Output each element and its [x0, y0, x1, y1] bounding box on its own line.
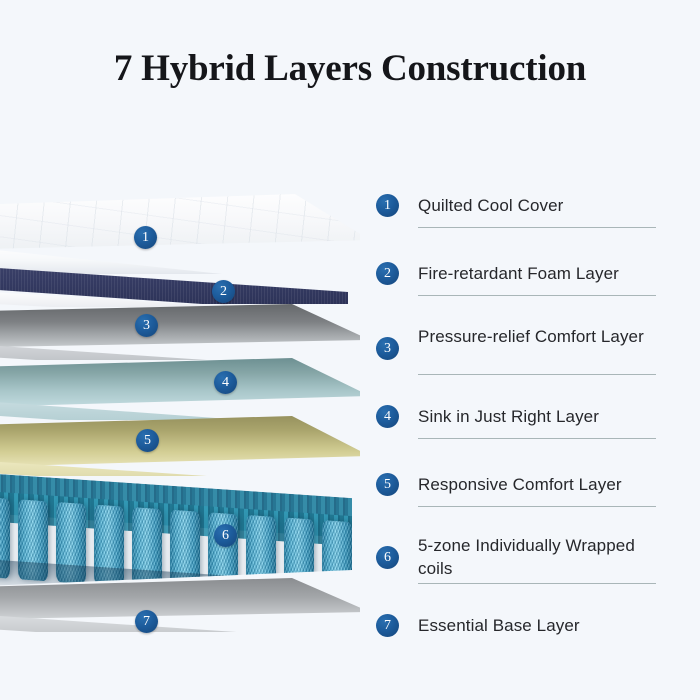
illustration-marker-5[interactable]: 5 — [136, 429, 159, 452]
legend-divider-2 — [418, 295, 656, 296]
pocket-coil — [170, 510, 200, 590]
legend-label-7: Essential Base Layer — [418, 614, 664, 637]
pocket-coil — [322, 520, 352, 590]
legend-badge-3[interactable]: 3 — [376, 337, 399, 360]
illustration-marker-2[interactable]: 2 — [212, 280, 235, 303]
page-title: 7 Hybrid Layers Construction — [0, 47, 700, 90]
legend-badge-4[interactable]: 4 — [376, 405, 399, 428]
mattress-layers-infographic: 7 Hybrid Layers Construction 1 2 3 4 5 6… — [0, 0, 700, 700]
illustration-marker-4[interactable]: 4 — [214, 371, 237, 394]
layer-1-quilted-cover-edge — [0, 244, 360, 274]
legend-badge-1[interactable]: 1 — [376, 194, 399, 217]
layer-5-khaki-foam-top — [0, 416, 360, 468]
legend-label-2: Fire-retardant Foam Layer — [418, 262, 664, 285]
layer-6-pocket-coil-array — [0, 470, 360, 590]
legend-divider-1 — [418, 227, 656, 228]
legend-label-5: Responsive Comfort Layer — [418, 473, 664, 496]
legend-label-4: Sink in Just Right Layer — [418, 405, 664, 428]
illustration-marker-6[interactable]: 6 — [214, 524, 237, 547]
legend-badge-7[interactable]: 7 — [376, 614, 399, 637]
layer-3-gray-foam-top — [0, 304, 360, 348]
legend-label-6: 5-zone Individually Wrapped coils — [418, 534, 664, 580]
legend-badge-6[interactable]: 6 — [376, 546, 399, 569]
legend-label-1: Quilted Cool Cover — [418, 194, 664, 217]
layer-1-quilt-texture — [0, 194, 360, 250]
illustration-marker-7[interactable]: 7 — [135, 610, 158, 633]
legend-badge-2[interactable]: 2 — [376, 262, 399, 285]
legend-divider-6 — [418, 583, 656, 584]
illustration-marker-3[interactable]: 3 — [135, 314, 158, 337]
legend-divider-5 — [418, 506, 656, 507]
legend-label-3: Pressure-relief Comfort Layer — [418, 325, 664, 348]
legend-badge-5[interactable]: 5 — [376, 473, 399, 496]
layer-7-base-top — [0, 578, 360, 620]
legend-divider-3 — [418, 374, 656, 375]
mattress-cutaway-illustration: 1 2 3 4 5 6 7 — [0, 186, 360, 656]
illustration-marker-1[interactable]: 1 — [134, 226, 157, 249]
legend-divider-4 — [418, 438, 656, 439]
layer-4-teal-foam-top — [0, 358, 360, 408]
